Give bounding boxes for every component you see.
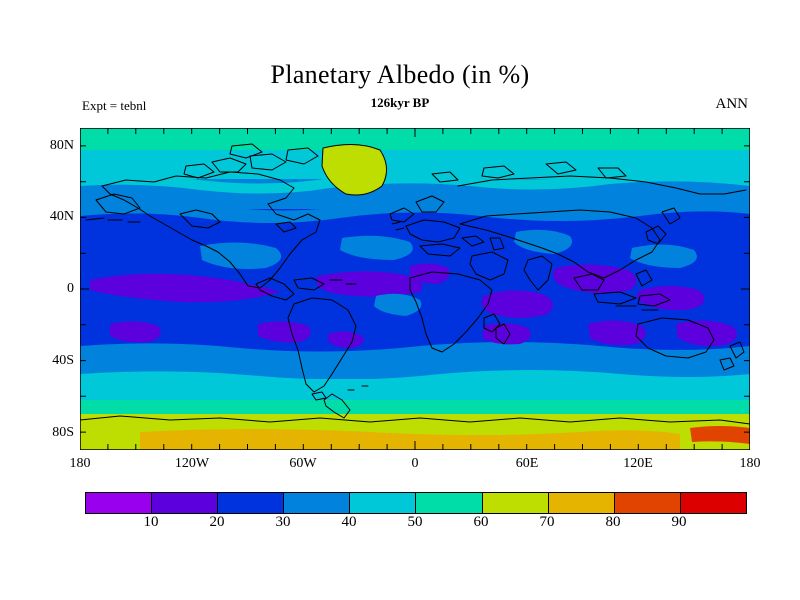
colorbar-label-90: 90 [659, 514, 699, 531]
x-tick-120w: 120W [162, 456, 222, 472]
colorbar-swatch-5 [416, 493, 482, 513]
colorbar-swatch-3 [284, 493, 350, 513]
x-tick-180e: 180 [720, 456, 780, 472]
albedo-field [80, 128, 750, 450]
colorbar-label-60: 60 [461, 514, 501, 531]
colorbar-swatch-6 [483, 493, 549, 513]
experiment-label: Expt = tebnl [82, 98, 146, 114]
albedo-map-figure: Planetary Albedo (in %) 126kyr BP Expt =… [0, 0, 800, 600]
colorbar-label-10: 10 [131, 514, 171, 531]
colorbar-label-70: 70 [527, 514, 567, 531]
colorbar-label-30: 30 [263, 514, 303, 531]
colorbar-label-20: 20 [197, 514, 237, 531]
colorbar-label-40: 40 [329, 514, 369, 531]
x-tick-120e: 120E [608, 456, 668, 472]
y-tick-0: 0 [28, 281, 74, 297]
colorbar-swatch-8 [615, 493, 681, 513]
colorbar-swatch-4 [350, 493, 416, 513]
x-tick-60w: 60W [273, 456, 333, 472]
colorbar-swatch-1 [152, 493, 218, 513]
colorbar-label-80: 80 [593, 514, 633, 531]
colorbar-swatch-0 [86, 493, 152, 513]
page-title: Planetary Albedo (in %) [0, 60, 800, 90]
colorbar [85, 492, 747, 514]
y-tick-40n: 40N [28, 209, 74, 225]
x-tick-180w: 180 [50, 456, 110, 472]
y-tick-40s: 40S [28, 353, 74, 369]
y-tick-80n: 80N [28, 138, 74, 154]
y-tick-80s: 80S [28, 425, 74, 441]
map-plot-area [80, 128, 750, 450]
x-tick-60e: 60E [497, 456, 557, 472]
x-tick-0: 0 [385, 456, 445, 472]
colorbar-swatch-9 [681, 493, 746, 513]
period-label: ANN [716, 96, 749, 113]
colorbar-swatch-2 [218, 493, 284, 513]
colorbar-label-50: 50 [395, 514, 435, 531]
colorbar-swatch-7 [549, 493, 615, 513]
map-canvas [80, 128, 750, 450]
